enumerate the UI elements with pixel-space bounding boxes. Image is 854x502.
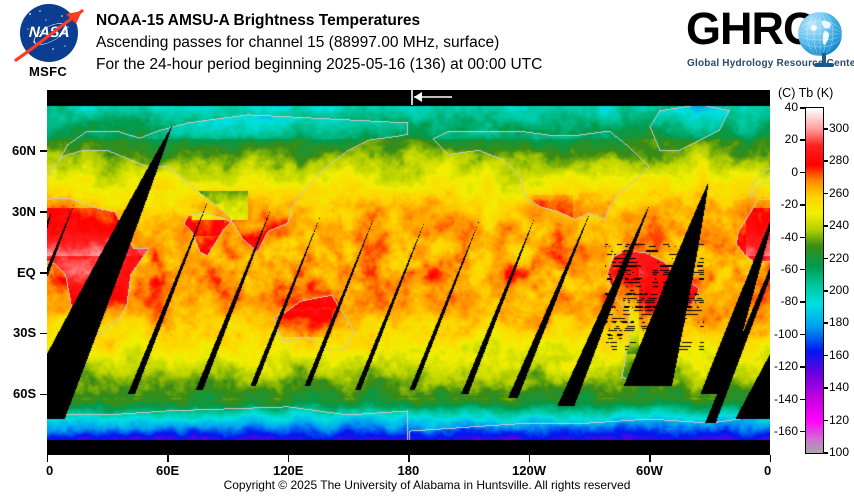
- x-axis-label: 60W: [636, 463, 663, 478]
- colorbar-legend: (C) Tb (K) 40200-20-40-60-80-100-120-140…: [778, 86, 854, 466]
- colorbar-tick-kelvin: [823, 452, 828, 454]
- x-axis-label: 120W: [512, 463, 546, 478]
- nasa-meatball-icon: NASA: [20, 4, 78, 62]
- x-axis-label: 60E: [156, 463, 179, 478]
- page-subtitle: Ascending passes for channel 15 (88997.0…: [96, 32, 676, 54]
- title-block: NOAA-15 AMSU-A Brightness Temperatures A…: [96, 10, 676, 76]
- colorbar-tick-kelvin: [823, 225, 828, 227]
- ghrc-expansion: Global Hydrology Resource Center: [687, 58, 854, 69]
- page-title: NOAA-15 AMSU-A Brightness Temperatures: [96, 10, 676, 32]
- colorbar-label-kelvin: 300: [829, 121, 849, 135]
- x-axis-tick: [47, 455, 49, 462]
- colorbar-tick-kelvin: [823, 160, 828, 162]
- y-axis-tick: [40, 394, 47, 396]
- colorbar-label-celsius: -60: [781, 262, 798, 276]
- colorbar-tick-celsius: [800, 269, 805, 271]
- y-axis-tick: [40, 333, 47, 335]
- x-axis-tick: [770, 455, 772, 462]
- colorbar-label-kelvin: 180: [829, 315, 849, 329]
- colorbar-label-kelvin: 240: [829, 218, 849, 232]
- colorbar-label-celsius: -100: [774, 327, 798, 341]
- colorbar-tick-kelvin: [823, 387, 828, 389]
- brightness-temperature-map[interactable]: [47, 90, 770, 455]
- colorbar-label-celsius: -160: [774, 424, 798, 438]
- ghrc-globe-icon: [798, 12, 842, 56]
- colorbar-label-celsius: -120: [774, 359, 798, 373]
- x-axis-label: 0: [764, 463, 771, 478]
- colorbar-label-kelvin: 160: [829, 348, 849, 362]
- colorbar-label-celsius: 0: [791, 165, 798, 179]
- colorbar-tick-celsius: [800, 334, 805, 336]
- y-axis-tick: [40, 211, 47, 213]
- mouse-cursor-arrow: [408, 88, 454, 106]
- y-axis-tick: [40, 150, 47, 152]
- colorbar-tick-kelvin: [823, 420, 828, 422]
- x-axis-label: 180: [398, 463, 420, 478]
- colorbar-tick-kelvin: [823, 258, 828, 260]
- copyright-notice: Copyright © 2025 The University of Alaba…: [0, 478, 854, 492]
- colorbar-bar: [805, 107, 824, 454]
- x-axis-tick: [408, 455, 410, 462]
- colorbar-tick-kelvin: [823, 128, 828, 130]
- colorbar-tick-celsius: [800, 366, 805, 368]
- y-axis-tick: [40, 272, 47, 274]
- colorbar-tick-celsius: [800, 431, 805, 433]
- colorbar-tick-kelvin: [823, 355, 828, 357]
- ghrc-acronym: GHRC: [686, 4, 815, 54]
- colorbar-label-kelvin: 120: [829, 413, 849, 427]
- colorbar-label-kelvin: 220: [829, 251, 849, 265]
- x-axis-label: 0: [46, 463, 53, 478]
- map-raster: [47, 90, 770, 455]
- colorbar-tick-celsius: [800, 237, 805, 239]
- ghrc-logo: GHRC Global H: [684, 4, 846, 78]
- colorbar-tick-celsius: [800, 399, 805, 401]
- ghrc-globe-continents: [798, 12, 842, 56]
- colorbar-tick-celsius: [800, 107, 805, 109]
- colorbar-label-kelvin: 200: [829, 283, 849, 297]
- x-axis-tick: [529, 455, 531, 462]
- colorbar-tick-celsius: [800, 139, 805, 141]
- colorbar-label-kelvin: 100: [829, 445, 849, 459]
- nasa-wordmark: NASA: [20, 25, 78, 40]
- colorbar-label-celsius: -140: [774, 392, 798, 406]
- colorbar-label-celsius: 40: [785, 100, 798, 114]
- colorbar-tick-kelvin: [823, 322, 828, 324]
- colorbar-heading: (C) Tb (K): [778, 86, 854, 100]
- colorbar-gradient: [806, 108, 823, 453]
- colorbar-tick-celsius: [800, 204, 805, 206]
- y-axis-label: 60S: [13, 386, 36, 401]
- colorbar-label-kelvin: 260: [829, 186, 849, 200]
- nasa-center-label: MSFC: [8, 64, 88, 79]
- x-axis-label: 120E: [273, 463, 303, 478]
- colorbar-label-celsius: -80: [781, 294, 798, 308]
- colorbar-label-celsius: 20: [785, 132, 798, 146]
- colorbar-tick-celsius: [800, 301, 805, 303]
- colorbar-label-kelvin: 140: [829, 380, 849, 394]
- y-axis-label: 30N: [12, 204, 36, 219]
- colorbar-tick-kelvin: [823, 193, 828, 195]
- nasa-msfc-logo: NASA MSFC: [8, 2, 88, 84]
- x-axis-tick: [167, 455, 169, 462]
- page-period: For the 24-hour period beginning 2025-05…: [96, 54, 676, 76]
- colorbar-label-celsius: -20: [781, 197, 798, 211]
- page-header: NASA MSFC NOAA-15 AMSU-A Brightness Temp…: [0, 0, 854, 86]
- y-axis-label: EQ: [17, 265, 36, 280]
- x-axis-tick: [649, 455, 651, 462]
- colorbar-label-celsius: -40: [781, 230, 798, 244]
- x-axis-tick: [288, 455, 290, 462]
- y-axis-label: 60N: [12, 143, 36, 158]
- colorbar-tick-kelvin: [823, 290, 828, 292]
- colorbar-label-kelvin: 280: [829, 153, 849, 167]
- y-axis-label: 30S: [13, 325, 36, 340]
- colorbar-tick-celsius: [800, 172, 805, 174]
